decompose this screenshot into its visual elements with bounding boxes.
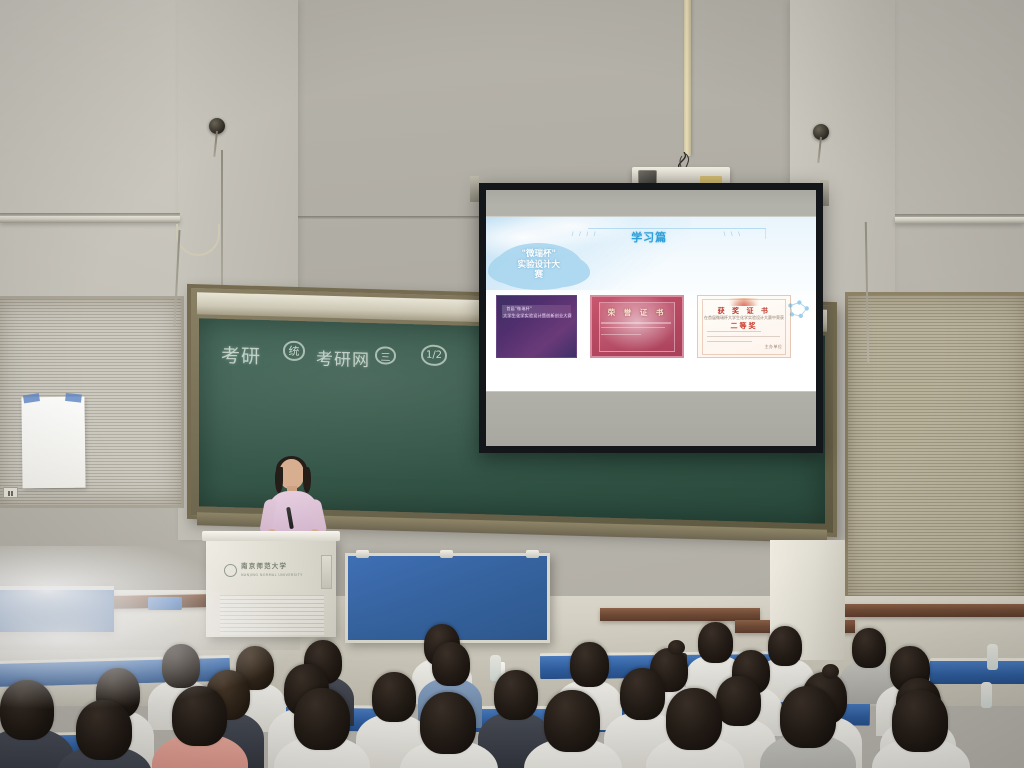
audience-head — [0, 680, 54, 740]
slide-cloud-badge: "微瑞杯" 实验设计大 赛 — [494, 243, 583, 287]
audience-head — [294, 688, 350, 750]
university-name-text: 南京师范大学 — [241, 562, 287, 570]
audience-head — [494, 670, 538, 720]
wall-panel-right — [845, 292, 1024, 608]
wall-outlet-left[interactable] — [3, 487, 18, 498]
audience-head — [698, 622, 733, 663]
cert-white-signature: 主办单位 — [765, 344, 783, 350]
projector-mount-rod — [684, 0, 691, 156]
slide-section-title: 学习篇 — [631, 229, 667, 245]
audience-hair-bun — [668, 640, 685, 655]
cert-white-line-3 — [707, 341, 753, 342]
lectern-branding: 南京师范大学 NANJING NORMAL UNIVERSITY — [224, 559, 320, 581]
university-name-sub: NANJING NORMAL UNIVERSITY — [241, 573, 303, 577]
chalk-text-2: 考研网 — [316, 345, 370, 372]
lectern-top — [202, 531, 340, 541]
audience-head — [620, 668, 665, 720]
chalk-circled-1: 统 — [283, 341, 305, 362]
tape-right-icon — [65, 393, 82, 403]
screen-surface: / / / / \ \ \ 学习篇 "微瑞杯" 实验设计大 赛 首届"微瑞杯" … — [486, 190, 816, 446]
cert-white-line-2 — [707, 336, 780, 337]
wall-camera-left-icon — [209, 118, 225, 134]
chalk-circled-2: 三 — [375, 346, 396, 365]
cert-red-line-2 — [601, 327, 665, 329]
audience-head — [432, 642, 470, 686]
slide-cloud-badge-text: "微瑞杯" 实验设计大 赛 — [518, 249, 561, 281]
slide-photo-ceremony: 首届"微瑞杯" 大学生化学实验设计暨创新创业大赛 — [496, 295, 577, 358]
slide-decor-right: \ \ \ — [724, 232, 742, 238]
cert-red-line-1 — [601, 322, 670, 324]
audience-head — [768, 626, 802, 666]
cert-white-prize: 二等奖 — [731, 321, 758, 331]
cert-white-line-1 — [707, 331, 762, 332]
audience-head — [780, 686, 836, 748]
cert-red-title: 荣 誉 证 书 — [608, 307, 667, 318]
audience-head — [76, 700, 132, 760]
audience-head — [666, 688, 722, 750]
photo-banner-text-top: 首届"微瑞杯" — [506, 306, 532, 312]
audience-hair-bun — [822, 664, 839, 679]
cert-white-crest-icon — [729, 298, 760, 306]
board-clip-center-icon — [440, 550, 453, 558]
water-bottle — [981, 682, 992, 708]
photo-banner-text-main: 大学生化学实验设计暨创新创业大赛 — [503, 313, 572, 319]
audience-head — [852, 628, 886, 668]
audience-head — [892, 690, 948, 752]
audience-head — [570, 642, 609, 687]
audience-head — [172, 686, 227, 746]
lectern-side-panel — [321, 555, 332, 589]
audience-head — [372, 672, 416, 722]
board-clip-left-icon — [356, 550, 369, 558]
cert-red-line-3 — [601, 334, 640, 336]
audience-head — [544, 690, 600, 752]
screen-bracket-left — [470, 176, 479, 202]
slide-certificate-white: 获 奖 证 书 在首届微瑞杯大学生化学实验设计大赛中荣获 二等奖 主办单位 — [697, 295, 790, 358]
wall-ledge-left — [0, 216, 180, 223]
photo-people-group — [508, 326, 565, 355]
tape-left-icon — [23, 393, 40, 403]
slide-image-row: 首届"微瑞杯" 大学生化学实验设计暨创新创业大赛 荣 誉 证 书 — [496, 295, 806, 358]
wall-camera-right-icon — [813, 124, 829, 140]
university-name: 南京师范大学 NANJING NORMAL UNIVERSITY — [241, 562, 303, 579]
presenter-hair-right — [303, 467, 311, 493]
chair-row — [930, 658, 1024, 684]
wall-note-paper — [21, 397, 85, 489]
chalk-text-1: 考研 — [221, 341, 261, 369]
university-seal-icon — [224, 564, 237, 577]
lecture-hall-scene: 考研 统 考研网 三 1/2 / / / / \ \ \ 学习篇 "微瑞杯" 实… — [0, 0, 1024, 768]
audience-area: MITSU — [0, 600, 1024, 768]
presentation-slide: / / / / \ \ \ 学习篇 "微瑞杯" 实验设计大 赛 首届"微瑞杯" … — [486, 217, 816, 391]
wall-ledge-right — [895, 217, 1024, 224]
projection-screen[interactable]: / / / / \ \ \ 学习篇 "微瑞杯" 实验设计大 赛 首届"微瑞杯" … — [479, 183, 823, 453]
audience-head — [162, 644, 200, 688]
board-clip-right-icon — [526, 550, 539, 558]
chalk-circled-3: 1/2 — [421, 344, 447, 366]
audience-head — [420, 692, 476, 754]
slide-decor-left: / / / / — [572, 232, 598, 238]
wall-upper-left — [0, 0, 180, 300]
audience-head — [716, 676, 761, 726]
slide-certificate-red: 荣 誉 证 书 — [590, 295, 683, 358]
water-bottle — [987, 644, 998, 670]
presenter-hair-left — [275, 467, 283, 493]
molecule-decoration-icon — [783, 294, 813, 329]
